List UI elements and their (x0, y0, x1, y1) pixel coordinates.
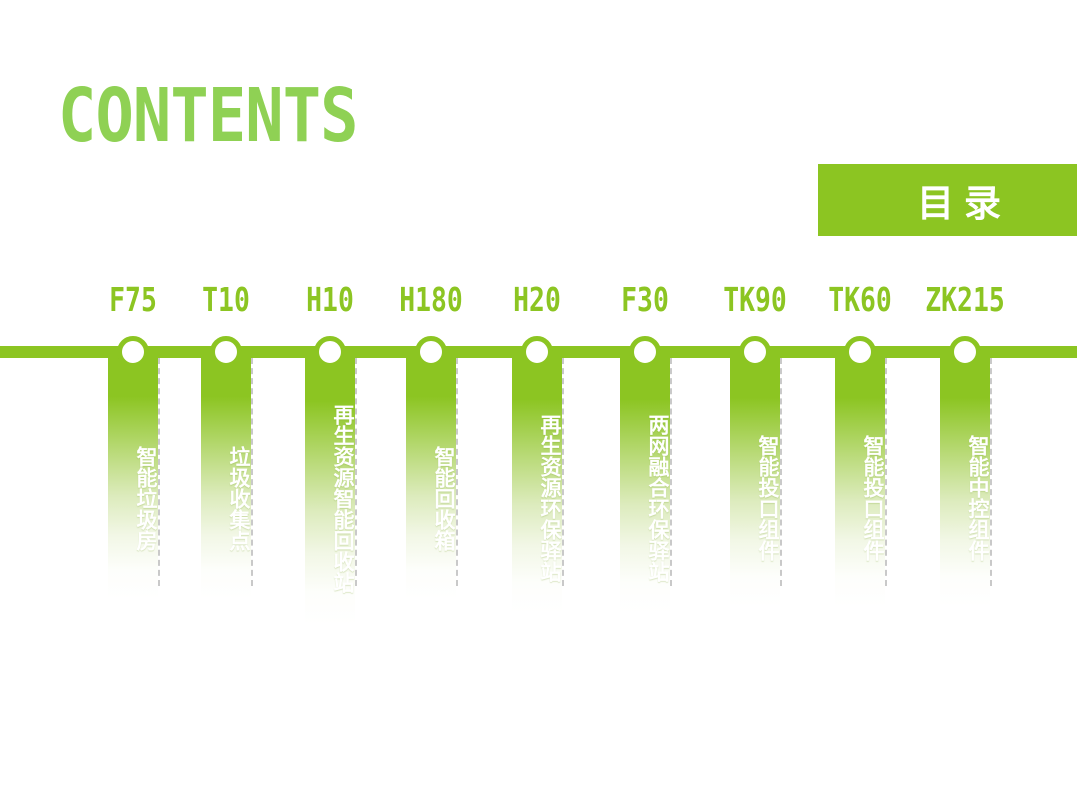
node-code: H20 (493, 283, 581, 316)
node-code: F75 (89, 283, 177, 316)
node-label: 智能回收箱 (406, 368, 456, 628)
node-dot-icon (739, 336, 771, 368)
node-dot-icon (117, 336, 149, 368)
node-label: 再生资源环保驿站 (512, 368, 562, 628)
node-label: 智能投口组件 (835, 368, 885, 628)
node-dot-icon (844, 336, 876, 368)
node-label: 智能投口组件 (730, 368, 780, 628)
node-code: T10 (182, 283, 270, 316)
node-divider (670, 358, 672, 586)
node-code: TK90 (711, 283, 799, 316)
node-dot-icon (314, 336, 346, 368)
node-dot-icon (521, 336, 553, 368)
node-label: 智能中控组件 (940, 368, 990, 628)
node-code: F30 (601, 283, 689, 316)
node-label: 智能垃圾房 (108, 368, 158, 628)
node-divider (456, 358, 458, 586)
node-divider (251, 358, 253, 586)
node-divider (990, 358, 992, 586)
node-label: 垃圾收集点 (201, 368, 251, 628)
node-label: 再生资源智能回收站 (305, 368, 355, 628)
node-dot-icon (629, 336, 661, 368)
contents-timeline: F75智能垃圾房T10垃圾收集点H10再生资源智能回收站H180智能回收箱H20… (0, 0, 1077, 793)
node-label: 两网融合环保驿站 (620, 368, 670, 628)
node-code: ZK215 (921, 283, 1009, 316)
node-dot-icon (210, 336, 242, 368)
node-divider (885, 358, 887, 586)
node-dot-icon (415, 336, 447, 368)
node-divider (562, 358, 564, 586)
node-dot-icon (949, 336, 981, 368)
node-divider (158, 358, 160, 586)
node-code: TK60 (816, 283, 904, 316)
node-code: H10 (286, 283, 374, 316)
node-divider (355, 358, 357, 586)
node-code: H180 (387, 283, 475, 316)
node-divider (780, 358, 782, 586)
